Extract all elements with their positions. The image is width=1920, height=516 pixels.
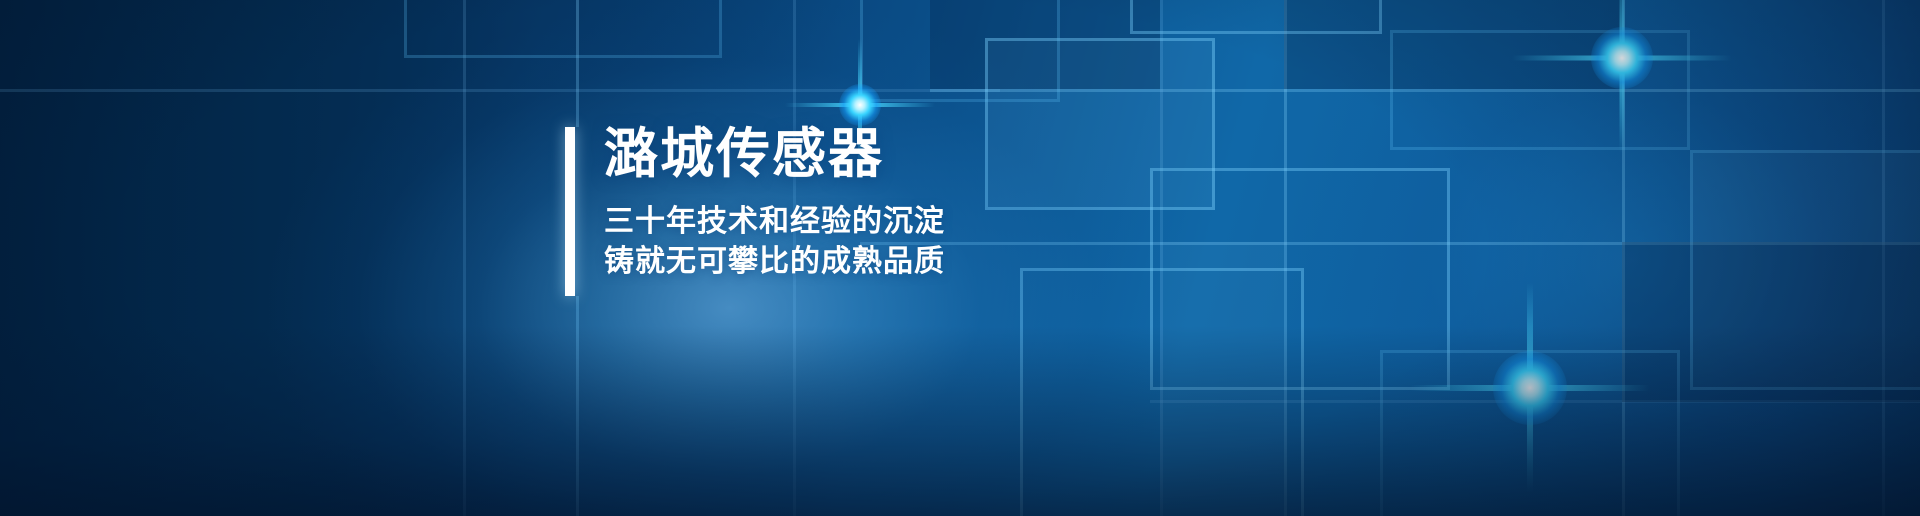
banner-content: 潞城传感器 三十年技术和经验的沉淀 铸就无可攀比的成熟品质	[0, 0, 1920, 516]
banner-subtitle-line-1: 三十年技术和经验的沉淀	[604, 203, 945, 241]
hero-banner: 潞城传感器 三十年技术和经验的沉淀 铸就无可攀比的成熟品质	[0, 0, 1920, 516]
banner-subtitle-line-2: 铸就无可攀比的成熟品质	[604, 243, 945, 281]
banner-title: 潞城传感器	[604, 124, 884, 184]
accent-bar	[565, 127, 575, 296]
